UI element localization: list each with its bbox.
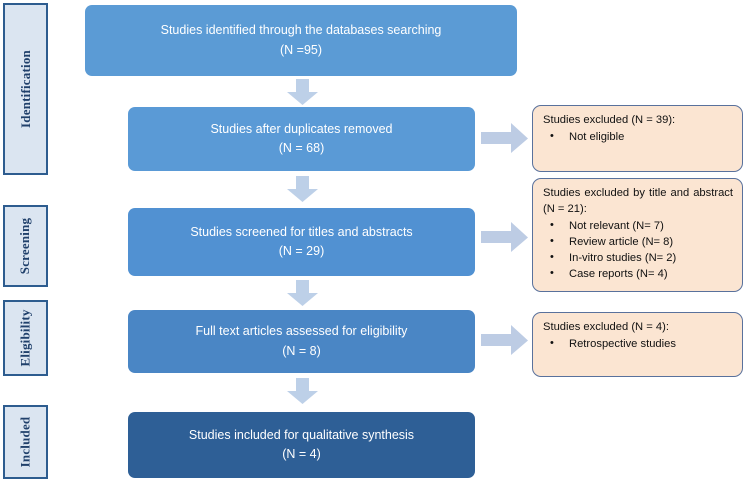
- exclusion-heading: Studies excluded (N = 4):: [543, 320, 733, 336]
- arrow-down-fulltext-to-included: [286, 378, 319, 405]
- exclusion-box-retrospective: Studies excluded (N = 4): • Retrospectiv…: [532, 312, 743, 377]
- list-item-label: Not eligible: [569, 131, 624, 143]
- flow-box-screened: Studies screened for titles and abstract…: [128, 208, 475, 276]
- list-item: • Not relevant (N= 7): [543, 219, 733, 235]
- flow-box-line1: Full text articles assessed for eligibil…: [196, 324, 408, 338]
- stage-label-text: Eligibility: [18, 309, 34, 366]
- stage-label-eligibility: Eligibility: [3, 300, 48, 376]
- bullet-icon: •: [550, 234, 554, 250]
- flow-box-line1: Studies after duplicates removed: [210, 122, 392, 136]
- flow-box-line2: (N = 29): [190, 242, 412, 261]
- bullet-icon: •: [550, 336, 554, 352]
- arrow-down-identification-to-duplicates: [286, 79, 319, 106]
- exclusion-item-list: • Not eligible: [543, 130, 733, 146]
- stage-label-text: Identification: [18, 50, 34, 128]
- flow-box-content: Studies screened for titles and abstract…: [190, 223, 412, 262]
- prisma-flow-diagram: Identification Screening Eligibility Inc…: [0, 0, 749, 485]
- list-item: • Case reports (N= 4): [543, 267, 733, 283]
- arrow-right-fulltext-to-excluded-4: [481, 325, 529, 356]
- flow-box-content: Full text articles assessed for eligibil…: [196, 322, 408, 361]
- list-item: • Not eligible: [543, 130, 733, 146]
- arrow-right-screened-to-excluded-21: [481, 222, 529, 253]
- list-item-label: Not relevant (N= 7): [569, 220, 664, 232]
- list-item: • Review article (N= 8): [543, 235, 733, 251]
- stage-label-identification: Identification: [3, 3, 48, 175]
- list-item: • In-vitro studies (N= 2): [543, 251, 733, 267]
- exclusion-heading: Studies excluded by title and abstract (…: [543, 186, 733, 218]
- flow-box-content: Studies after duplicates removed (N = 68…: [210, 120, 392, 159]
- flow-box-content: Studies included for qualitative synthes…: [189, 426, 414, 465]
- flow-box-content: Studies identified through the databases…: [161, 21, 442, 60]
- flow-box-line1: Studies identified through the databases…: [161, 23, 442, 37]
- bullet-icon: •: [550, 218, 554, 234]
- flow-box-line2: (N = 68): [210, 139, 392, 158]
- exclusion-item-list: • Not relevant (N= 7) • Review article (…: [543, 219, 733, 283]
- flow-box-line1: Studies included for qualitative synthes…: [189, 428, 414, 442]
- bullet-icon: •: [550, 266, 554, 282]
- arrow-down-duplicates-to-screened: [286, 176, 319, 203]
- flow-box-identified: Studies identified through the databases…: [85, 5, 517, 76]
- arrow-down-screened-to-fulltext: [286, 280, 319, 307]
- stage-label-screening: Screening: [3, 205, 48, 287]
- flow-box-fulltext-assessed: Full text articles assessed for eligibil…: [128, 310, 475, 373]
- bullet-icon: •: [550, 129, 554, 145]
- flow-box-line2: (N = 8): [196, 342, 408, 361]
- exclusion-box-not-eligible: Studies excluded (N = 39): • Not eligibl…: [532, 105, 743, 172]
- list-item-label: Case reports (N= 4): [569, 268, 668, 280]
- stage-label-text: Included: [18, 417, 34, 468]
- stage-label-included: Included: [3, 405, 48, 479]
- flow-box-line1: Studies screened for titles and abstract…: [190, 225, 412, 239]
- exclusion-heading: Studies excluded (N = 39):: [543, 113, 733, 129]
- stage-label-text: Screening: [18, 218, 34, 274]
- flow-box-line2: (N =95): [161, 41, 442, 60]
- arrow-right-duplicates-to-excluded-39: [481, 123, 529, 154]
- exclusion-item-list: • Retrospective studies: [543, 337, 733, 353]
- list-item: • Retrospective studies: [543, 337, 733, 353]
- list-item-label: In-vitro studies (N= 2): [569, 252, 676, 264]
- flow-box-duplicates-removed: Studies after duplicates removed (N = 68…: [128, 107, 475, 171]
- bullet-icon: •: [550, 250, 554, 266]
- flow-box-line2: (N = 4): [189, 445, 414, 464]
- exclusion-box-title-abstract: Studies excluded by title and abstract (…: [532, 178, 743, 292]
- flow-box-included-qualitative: Studies included for qualitative synthes…: [128, 412, 475, 478]
- list-item-label: Review article (N= 8): [569, 236, 673, 248]
- list-item-label: Retrospective studies: [569, 338, 676, 350]
